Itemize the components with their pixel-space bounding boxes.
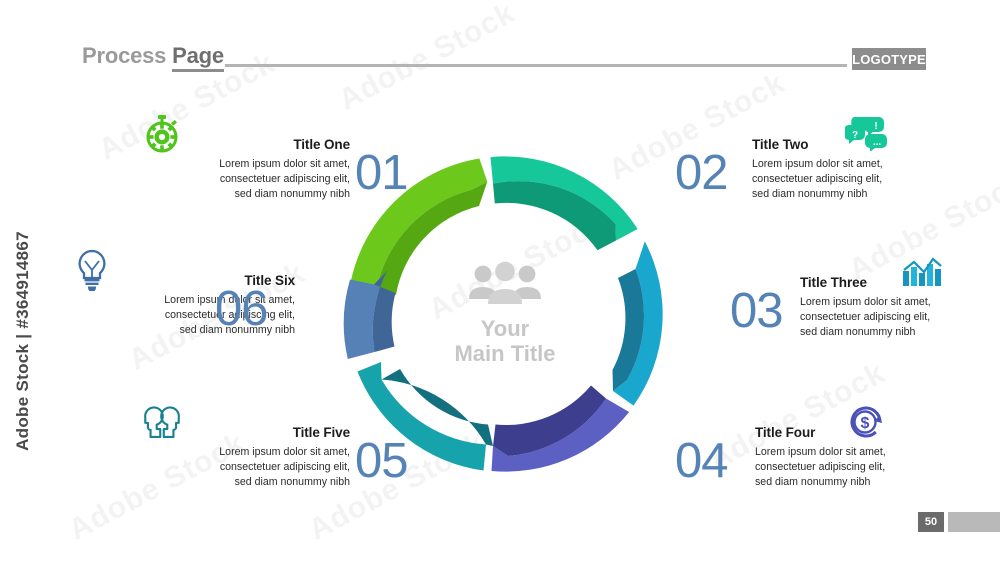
process-item-01-body: Lorem ipsum dolor sit amet, consectetuer… xyxy=(100,157,350,202)
process-item-03-title: Title Three xyxy=(800,275,985,290)
page-header: Process Page xyxy=(0,40,1000,82)
process-item-05-body: Lorem ipsum dolor sit amet, consectetuer… xyxy=(100,445,350,490)
process-item-01-title: Title One xyxy=(100,137,350,152)
stock-attribution-strip: Adobe Stock | #364914867 xyxy=(0,0,46,562)
page-title-primary: Process xyxy=(82,43,172,68)
process-item-03-body: Lorem ipsum dolor sit amet, consectetuer… xyxy=(800,295,985,340)
process-item-05-title: Title Five xyxy=(100,425,350,440)
process-item-02-title: Title Two xyxy=(752,137,930,152)
donut-segment-4[interactable] xyxy=(492,386,630,472)
process-item-04-number: 04 xyxy=(675,438,728,485)
process-item-04-title: Title Four xyxy=(755,425,930,440)
page-title: Process Page xyxy=(82,43,224,69)
process-item-05-number: 05 xyxy=(355,438,408,485)
stock-attribution-text: Adobe Stock | #364914867 xyxy=(13,231,33,451)
footer-bar xyxy=(948,512,1000,532)
process-item-02-body: Lorem ipsum dolor sit amet, consectetuer… xyxy=(752,157,930,202)
donut-segment-2[interactable] xyxy=(491,156,638,250)
process-item-03-number: 03 xyxy=(730,288,783,335)
svg-text:!: ! xyxy=(874,121,877,132)
process-item-02-number: 02 xyxy=(675,150,728,197)
header-divider-line xyxy=(225,64,847,67)
process-item-04-body: Lorem ipsum dolor sit amet, consectetuer… xyxy=(755,445,930,490)
page-title-accent: Page xyxy=(172,43,224,72)
process-item-06-number: 06 xyxy=(215,286,268,333)
donut-segment-3[interactable] xyxy=(613,241,663,405)
process-item-01-number: 01 xyxy=(355,150,408,197)
slide-number-badge: 50 xyxy=(918,512,944,532)
